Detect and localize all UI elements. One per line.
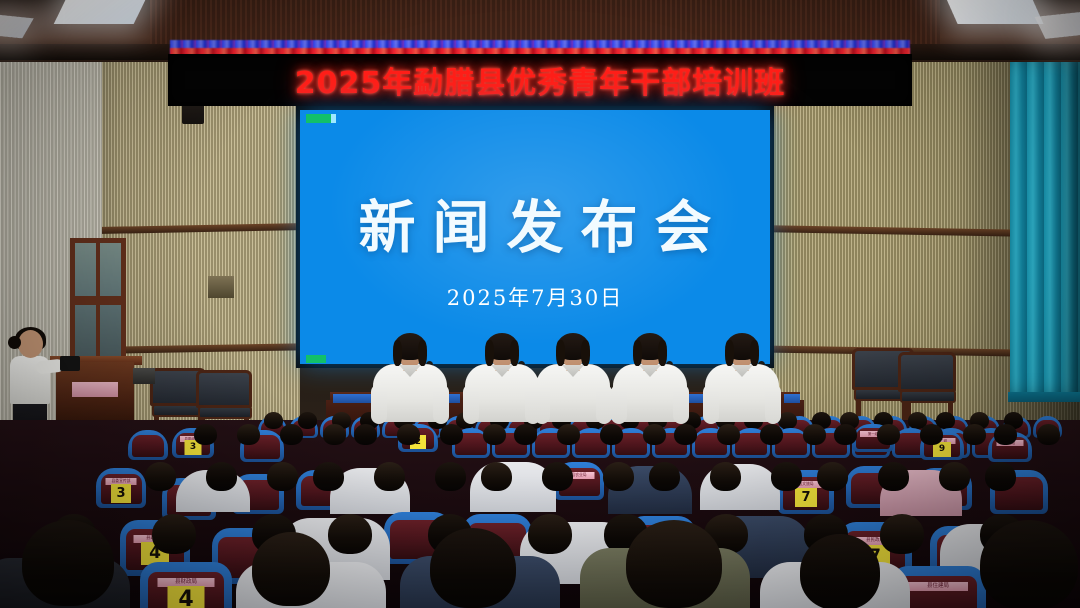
chair-number-tag: 7	[795, 488, 817, 507]
audience-head	[878, 462, 909, 491]
audience-head	[710, 462, 741, 491]
table-skirt-panel	[784, 394, 800, 403]
audience-head	[994, 424, 1017, 445]
panelist-arm	[765, 384, 781, 424]
chair-number-tag: 4	[168, 586, 205, 608]
audience-head	[626, 520, 722, 608]
audience-head	[980, 520, 1078, 608]
panelist-arm	[463, 384, 479, 424]
panelist-hair-side	[633, 340, 642, 366]
audience-head	[834, 424, 857, 445]
audience-head	[237, 424, 260, 445]
audience-head	[323, 424, 346, 445]
panelist-hair-side	[750, 340, 759, 366]
audience-head	[514, 424, 537, 445]
podium-nameplate	[72, 382, 118, 397]
panelist-hair-side	[418, 340, 427, 366]
camera-icon	[60, 356, 80, 371]
audience-head	[603, 462, 634, 491]
led-banner-text: 2025年勐腊县优秀青年干部培训班	[168, 58, 912, 102]
panelist-arm	[371, 384, 387, 424]
audience-chair[interactable]: 县财政局4	[140, 562, 232, 608]
panelist-arm	[433, 384, 449, 424]
audience-head	[194, 424, 217, 445]
audience-head	[643, 424, 666, 445]
audience-head	[483, 424, 506, 445]
panelist-arm	[703, 384, 719, 424]
audience-head	[22, 520, 114, 606]
audience-head	[877, 424, 900, 445]
audience-head	[145, 462, 176, 491]
audience-head	[649, 462, 680, 491]
screen-green-marker	[306, 114, 332, 123]
audience-head	[435, 462, 466, 491]
window-curtain-right	[1010, 54, 1080, 399]
audience-head	[963, 424, 986, 445]
projection-screen: 新闻发布会 2025年7月30日	[300, 110, 770, 364]
hall-door[interactable]	[70, 238, 126, 368]
photographer-head	[18, 330, 43, 358]
audience-head	[880, 514, 924, 554]
audience-head	[354, 424, 377, 445]
armchair-back	[898, 352, 956, 392]
audience-head	[267, 462, 298, 491]
armchair-back	[196, 370, 252, 408]
audience-head	[440, 424, 463, 445]
audience-head	[717, 424, 740, 445]
audience-head	[328, 514, 372, 554]
panelist-hair-side	[581, 340, 590, 366]
audience-head	[920, 424, 943, 445]
panelist-hair-side	[658, 340, 667, 366]
audience-head	[939, 462, 970, 491]
audience-head	[674, 424, 697, 445]
audience-head	[298, 412, 317, 429]
audience-head	[803, 424, 826, 445]
audience-head	[206, 462, 237, 491]
audience-head	[817, 462, 848, 491]
chair-name-tag: 县住建局	[908, 582, 968, 591]
audience-head	[397, 424, 420, 445]
audience-head	[542, 462, 573, 491]
audience-head	[528, 514, 572, 554]
audience-head	[557, 424, 580, 445]
audience-head	[264, 412, 283, 429]
audience-head	[985, 462, 1016, 491]
audience-head	[600, 424, 623, 445]
screen-green-marker	[306, 355, 326, 363]
ceiling-light-icon	[942, 0, 1043, 24]
audience-head	[152, 514, 196, 554]
panelist-hair-side	[556, 340, 565, 366]
chair-back-pad	[132, 435, 165, 457]
chair-back-pad	[899, 576, 978, 608]
audience-head	[280, 424, 303, 445]
panelist-hair-side	[485, 340, 494, 366]
audience-chair[interactable]: 县委宣传部3	[96, 468, 146, 508]
conference-hall-photo: 2025年勐腊县优秀青年干部培训班 新闻发布会 2025年7月30日	[0, 0, 1080, 608]
audience-head	[760, 424, 783, 445]
audience-head	[771, 462, 802, 491]
audience-chair[interactable]	[128, 430, 168, 460]
panelist-arm	[596, 384, 612, 424]
audience-head	[800, 534, 880, 608]
panelist-hair-side	[510, 340, 519, 366]
panelist-arm	[534, 384, 550, 424]
screen-cyan-marker	[331, 114, 336, 123]
podium-equipment-box	[133, 368, 155, 384]
chair-number-tag: 3	[111, 484, 131, 503]
wall-niche	[208, 276, 234, 298]
panelist-arm	[611, 384, 627, 424]
audience-head	[1037, 424, 1060, 445]
audience-head	[374, 462, 405, 491]
photographer-hair-bun	[8, 336, 21, 349]
panelist-arm	[673, 384, 689, 424]
slide-title: 新闻发布会	[300, 182, 770, 264]
slide-date: 2025年7月30日	[300, 282, 770, 312]
audience-head	[252, 532, 330, 606]
audience-head	[481, 462, 512, 491]
audience-head	[313, 462, 344, 491]
door-rail	[75, 296, 121, 305]
panelist-hair-side	[725, 340, 734, 366]
panelist-hair-side	[393, 340, 402, 366]
curtain-hem	[1008, 392, 1080, 402]
audience-head	[430, 528, 516, 608]
